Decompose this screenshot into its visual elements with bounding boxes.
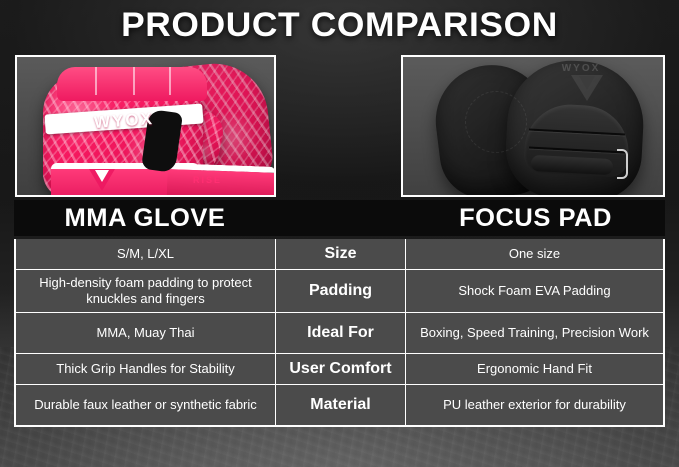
table-row: MMA, Muay Thai Ideal For Boxing, Speed T… bbox=[16, 313, 663, 354]
focus-pad-brand-wordmark: WYOX bbox=[553, 63, 609, 74]
cell-right-padding: Shock Foam EVA Padding bbox=[406, 270, 663, 312]
table-row: Thick Grip Handles for Stability User Co… bbox=[16, 354, 663, 385]
cell-feature-user-comfort: User Comfort bbox=[276, 354, 406, 384]
cell-right-material: PU leather exterior for durability bbox=[406, 385, 663, 425]
product-name-left: MMA GLOVE bbox=[11, 200, 278, 236]
cell-left-material: Durable faux leather or synthetic fabric bbox=[16, 385, 276, 425]
focus-pad-illustration: WYOX bbox=[403, 57, 663, 195]
cell-feature-material: Material bbox=[276, 385, 406, 425]
product-name-spacer bbox=[275, 200, 408, 236]
glove-finger-slots bbox=[57, 67, 207, 101]
cell-feature-size: Size bbox=[276, 239, 406, 269]
cell-left-ideal-for: MMA, Muay Thai bbox=[16, 313, 276, 353]
table-row: High-density foam padding to protect knu… bbox=[16, 270, 663, 313]
cell-left-padding: High-density foam padding to protect knu… bbox=[16, 270, 276, 312]
product-comparison-poster: PRODUCT COMPARISON WYOX RISE WYOX bbox=[0, 0, 679, 467]
product-image-right: WYOX bbox=[401, 55, 665, 197]
product-name-right: FOCUS PAD bbox=[403, 200, 667, 236]
glove-triangle-logo-icon bbox=[89, 169, 115, 191]
glove-model-wordmark: RISE bbox=[193, 175, 222, 185]
product-image-left: WYOX RISE bbox=[15, 55, 276, 197]
page-title: PRODUCT COMPARISON bbox=[0, 5, 679, 45]
mma-glove-illustration: WYOX RISE bbox=[17, 57, 274, 195]
cell-feature-ideal-for: Ideal For bbox=[276, 313, 406, 353]
cell-left-user-comfort: Thick Grip Handles for Stability bbox=[16, 354, 276, 384]
table-row: S/M, L/XL Size One size bbox=[16, 239, 663, 270]
table-row: Durable faux leather or synthetic fabric… bbox=[16, 385, 663, 425]
product-name-bar: MMA GLOVE FOCUS PAD bbox=[14, 200, 665, 236]
focus-pad-triangle-logo-icon bbox=[571, 75, 603, 101]
cell-right-user-comfort: Ergonomic Hand Fit bbox=[406, 354, 663, 384]
cell-feature-padding: Padding bbox=[276, 270, 406, 312]
focus-pad-buckle-icon bbox=[617, 149, 628, 179]
cell-right-ideal-for: Boxing, Speed Training, Precision Work bbox=[406, 313, 663, 353]
comparison-table: S/M, L/XL Size One size High-density foa… bbox=[14, 239, 665, 427]
cell-left-size: S/M, L/XL bbox=[16, 239, 276, 269]
cell-right-size: One size bbox=[406, 239, 663, 269]
